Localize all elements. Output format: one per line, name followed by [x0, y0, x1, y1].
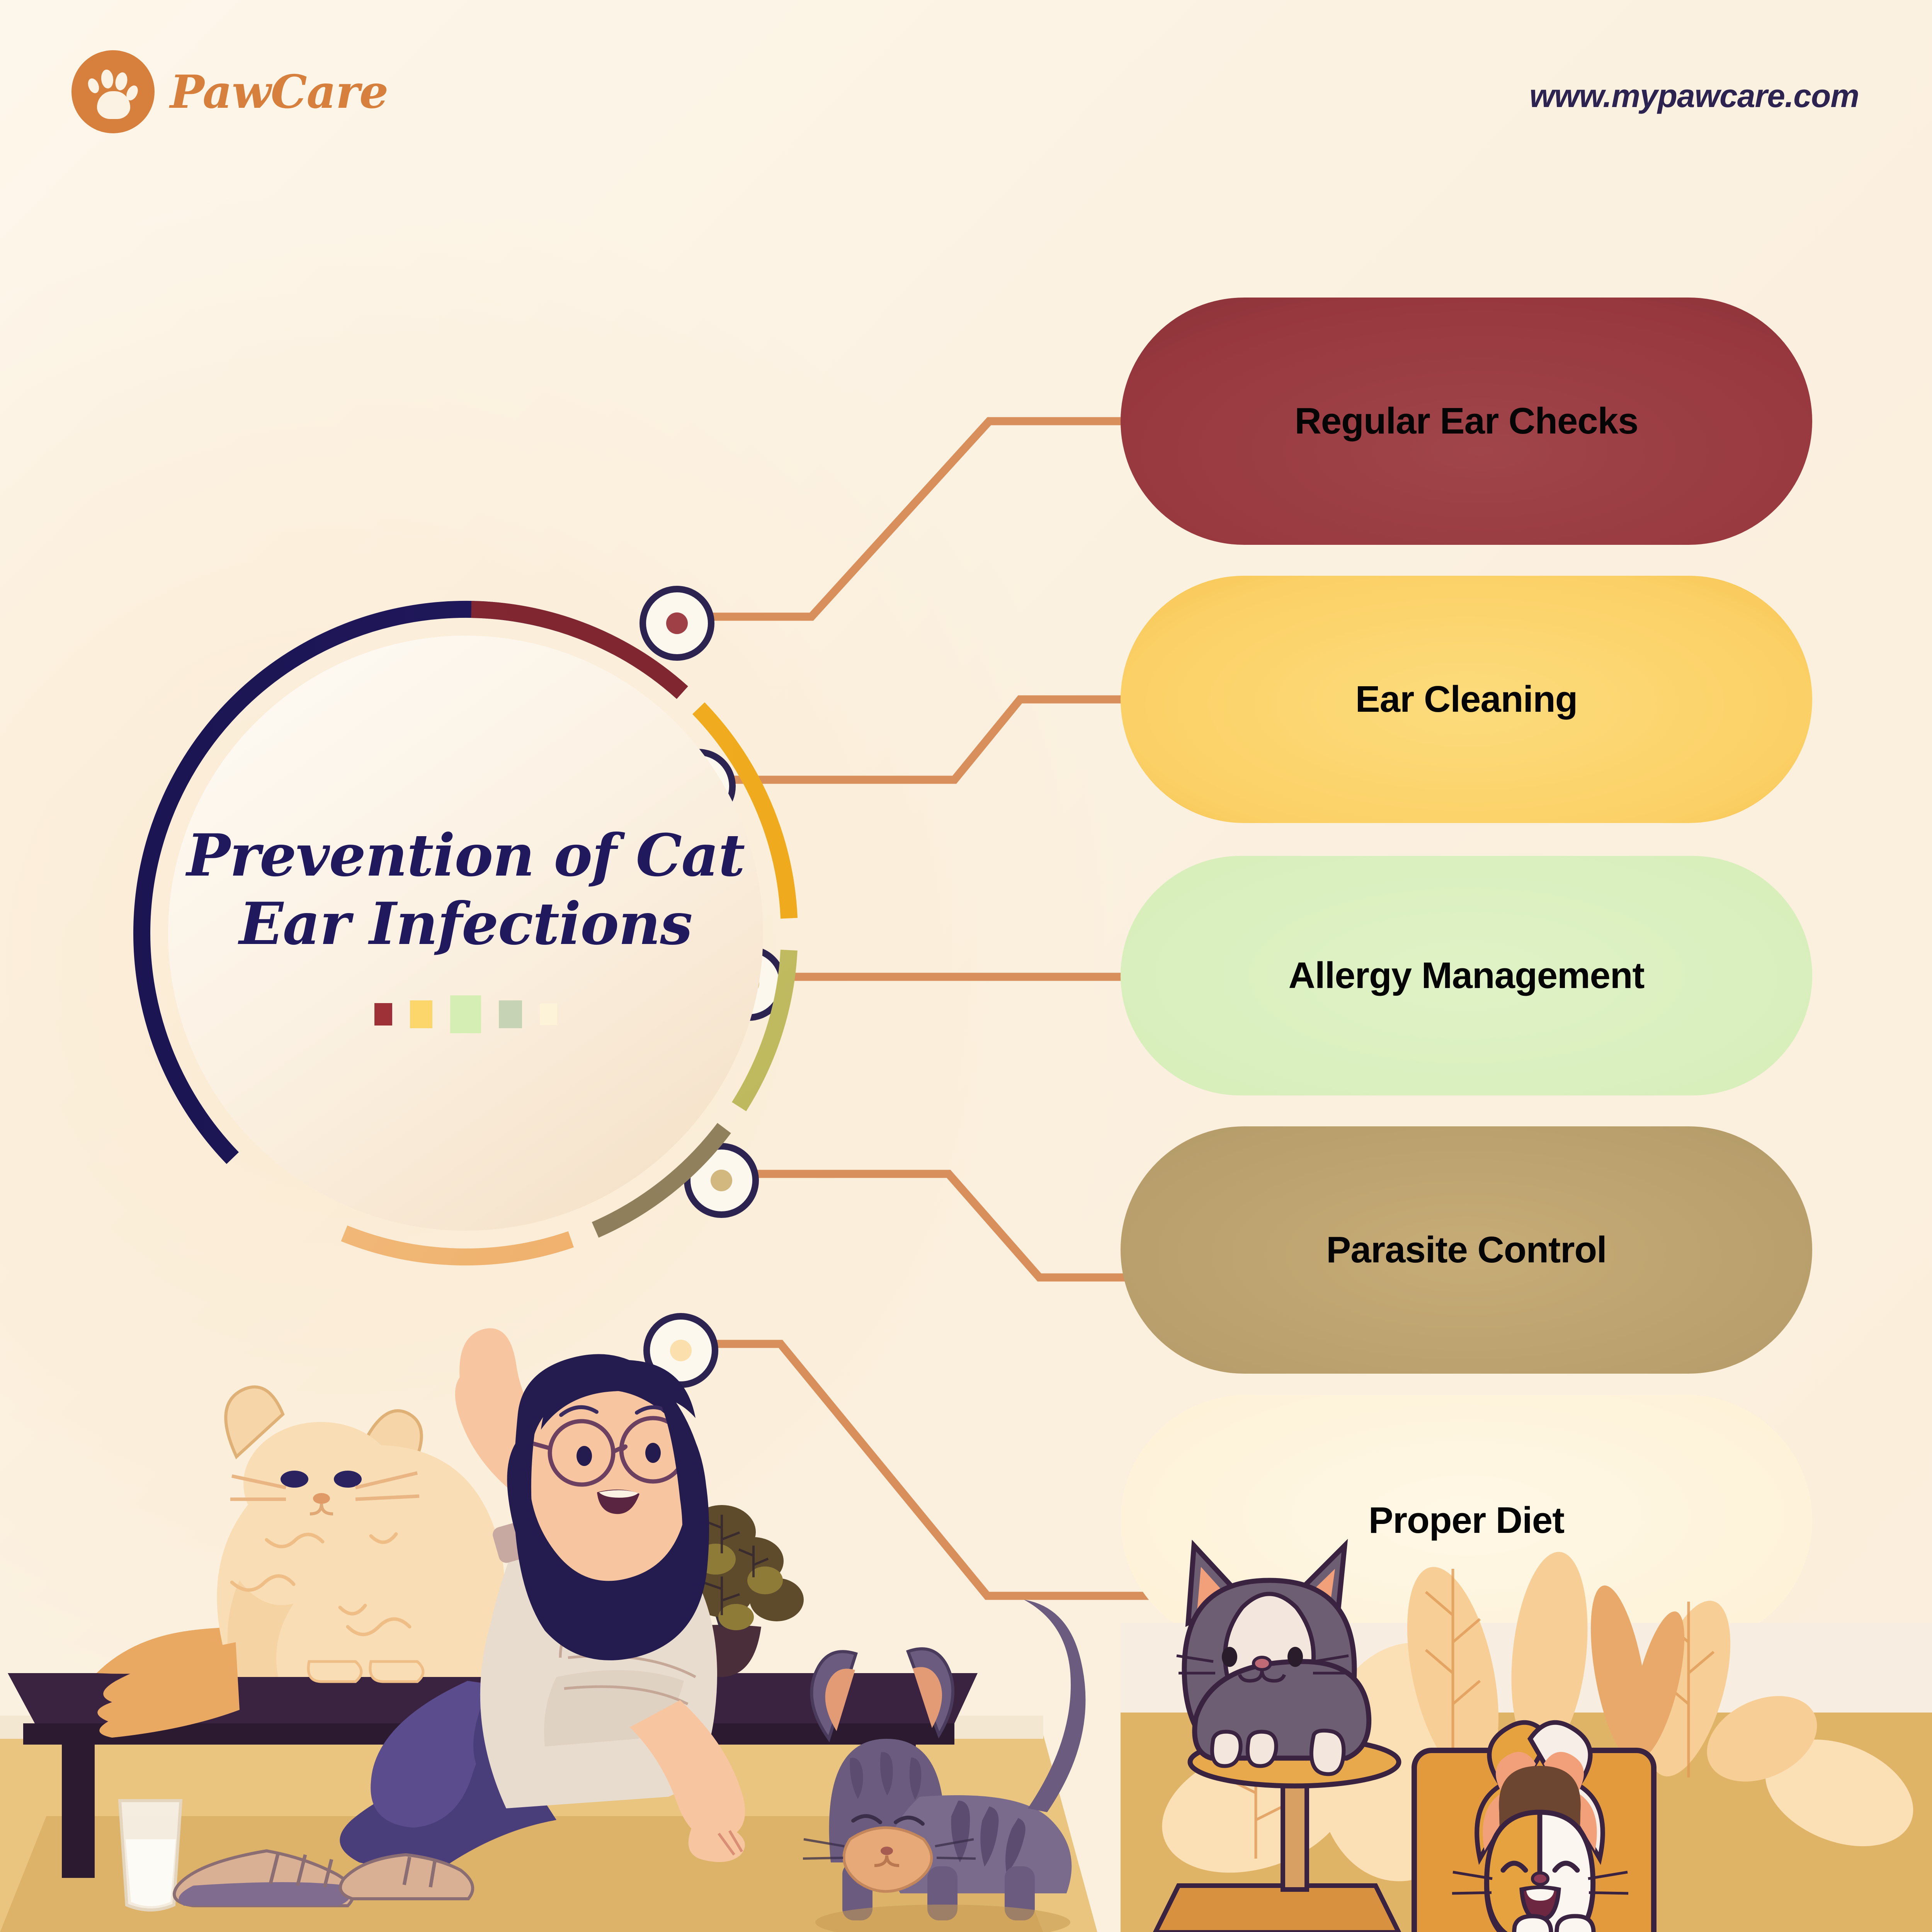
- item-card-allergy-management[interactable]: Allergy Management: [1121, 856, 1812, 1095]
- item-label-5: Proper Diet: [1369, 1499, 1564, 1542]
- item-label-2: Ear Cleaning: [1355, 678, 1578, 721]
- page-title: Prevention of Cat Ear Infections: [187, 821, 745, 958]
- page-title-line1: Prevention of Cat: [187, 821, 745, 889]
- swatch-3: [450, 995, 481, 1033]
- connector-node-5[interactable]: [643, 1313, 718, 1388]
- item-card-ear-cleaning[interactable]: Ear Cleaning: [1121, 576, 1812, 823]
- donut-center: Prevention of Cat Ear Infections: [168, 636, 763, 1231]
- item-label-3: Allergy Management: [1289, 954, 1645, 997]
- swatch-5: [540, 1003, 557, 1025]
- item-card-proper-diet[interactable]: Proper Diet: [1121, 1395, 1812, 1646]
- item-label-4: Parasite Control: [1326, 1229, 1607, 1271]
- swatch-2: [410, 1000, 432, 1028]
- item-label-1: Regular Ear Checks: [1294, 400, 1638, 442]
- swatch-1: [374, 1003, 392, 1026]
- donut-chart: Prevention of Cat Ear Infections: [120, 587, 811, 1279]
- item-card-regular-ear-checks[interactable]: Regular Ear Checks: [1121, 298, 1812, 545]
- color-swatch-legend: [374, 995, 557, 1033]
- item-card-parasite-control[interactable]: Parasite Control: [1121, 1126, 1812, 1374]
- page-title-line2: Ear Infections: [239, 890, 692, 958]
- infographic-poster: PawCare www.mypawcare.com: [0, 0, 1932, 1932]
- swatch-4: [499, 1000, 522, 1028]
